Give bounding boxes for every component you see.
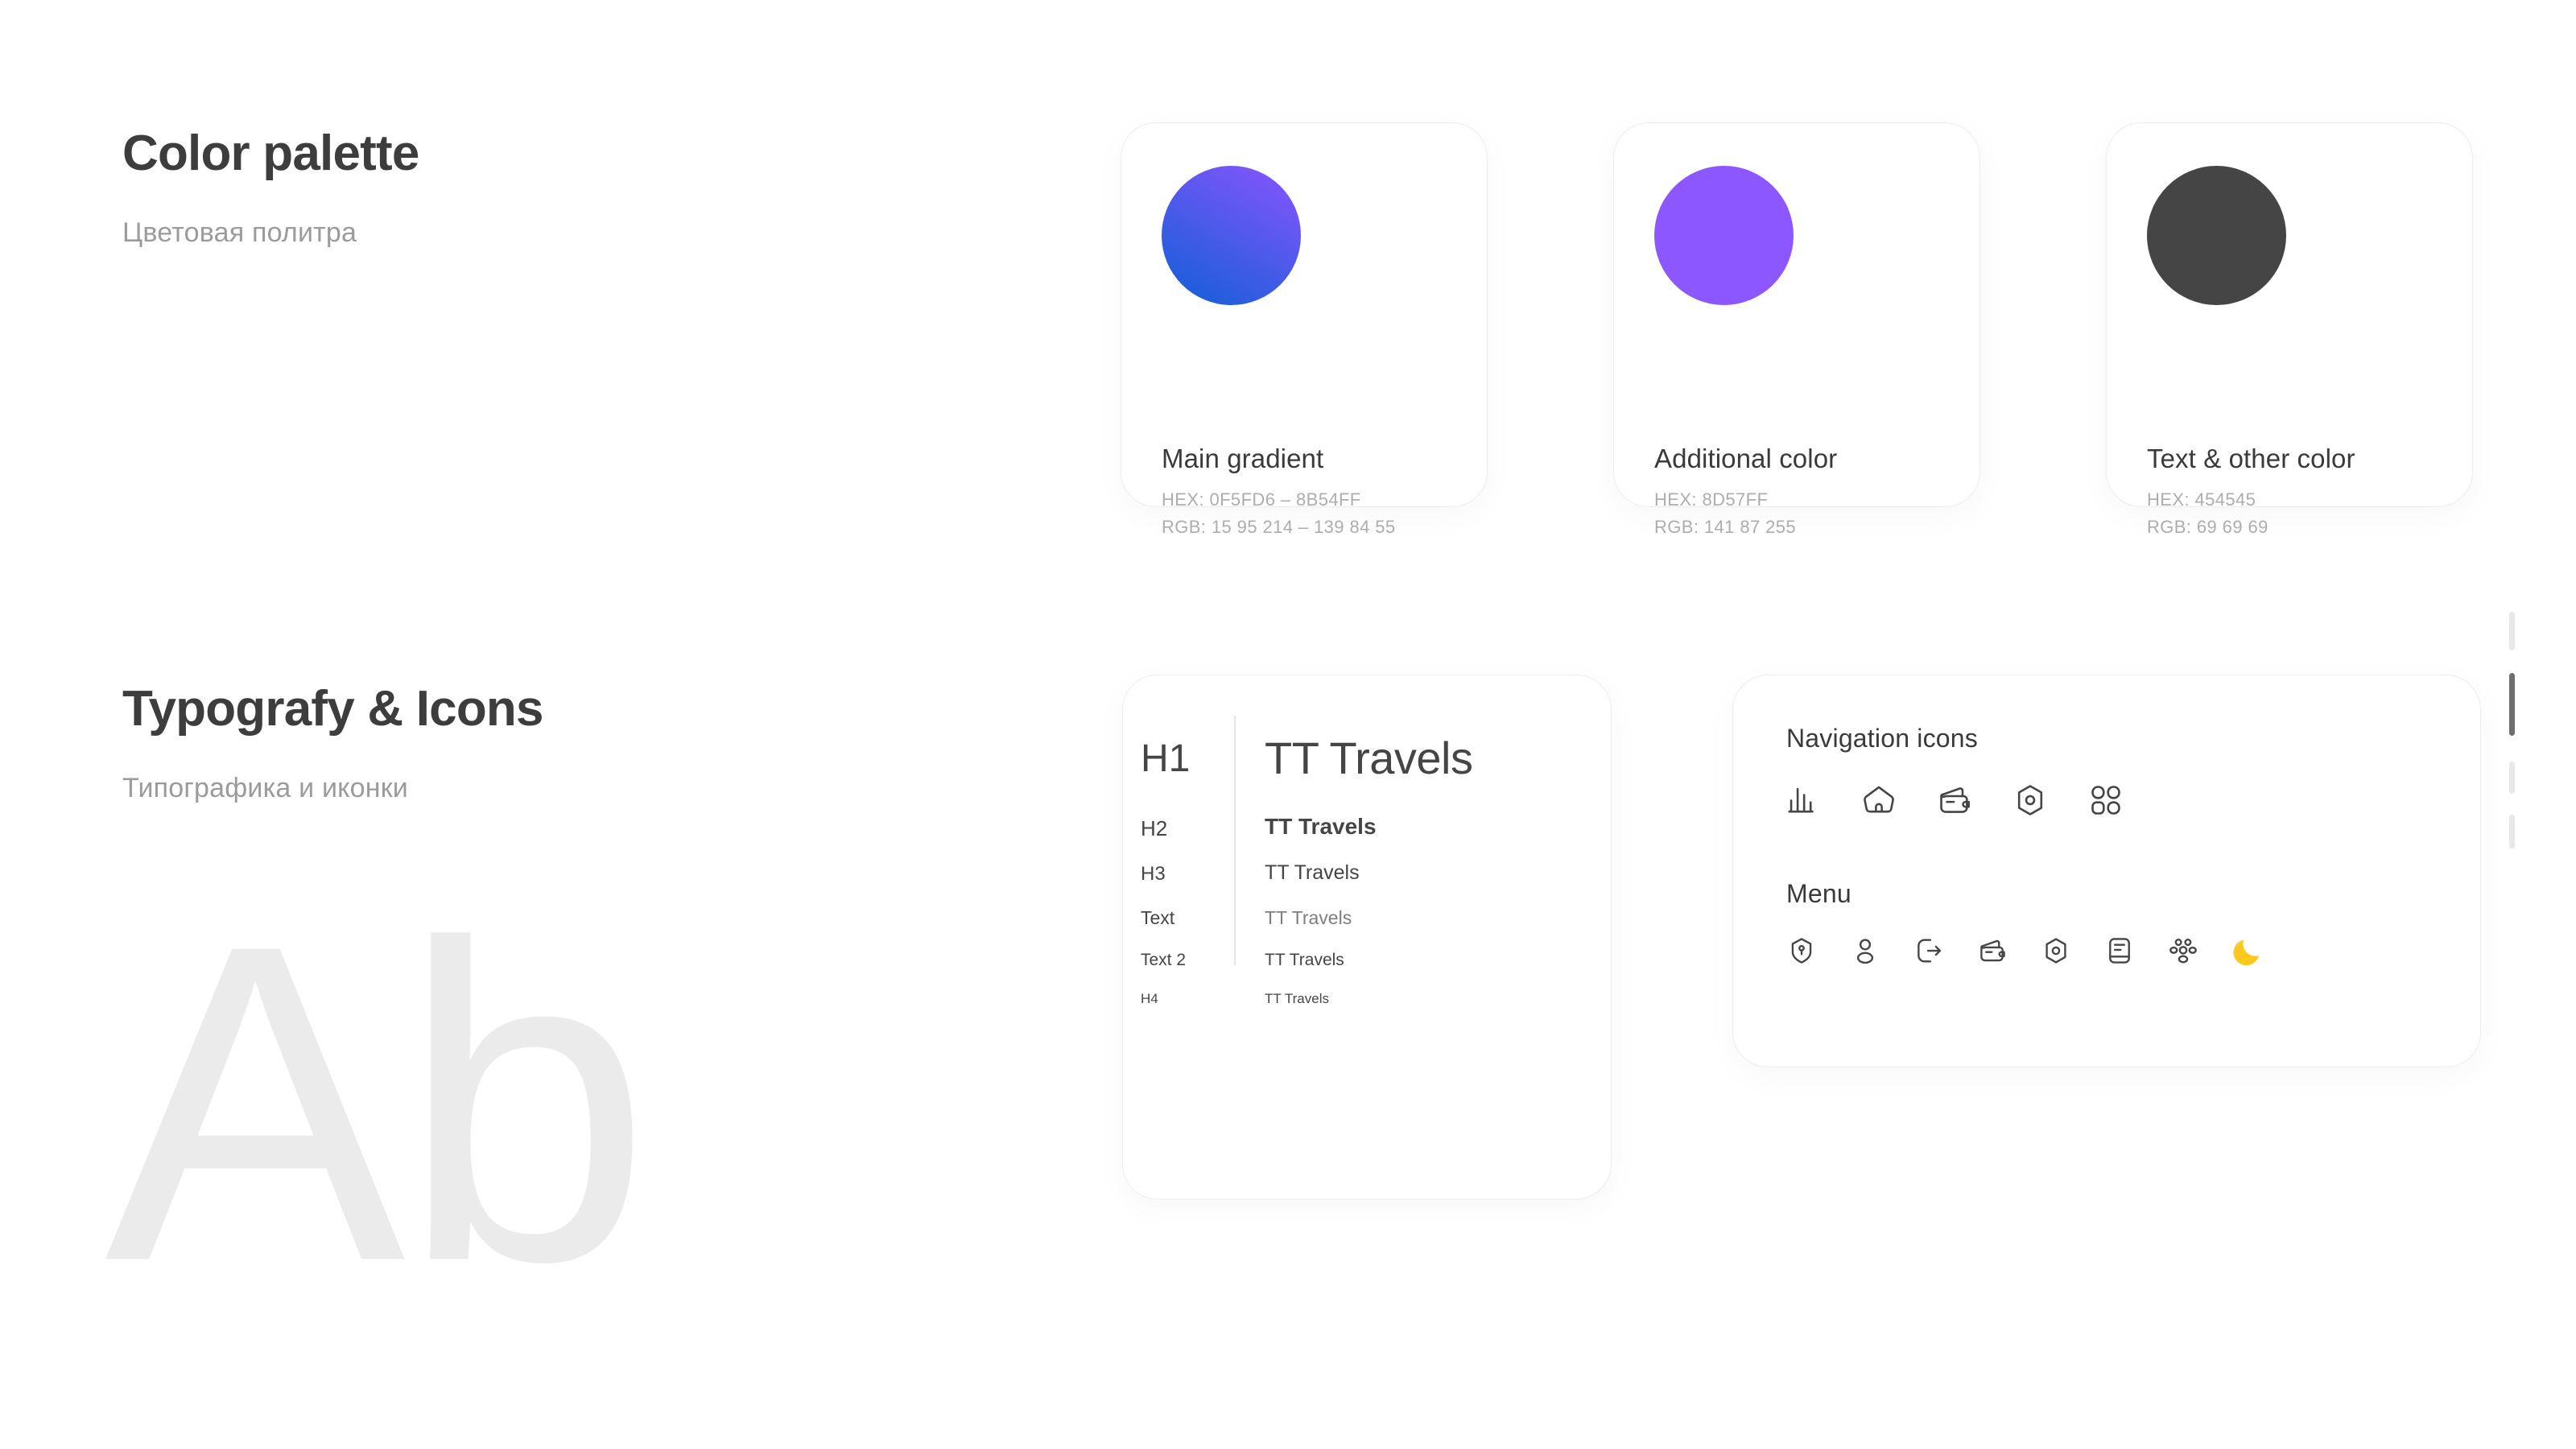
menu-icons-row <box>1786 935 2264 967</box>
swatch-name: Main gradient <box>1162 444 1323 474</box>
color-palette-subtitle: Цветовая политра <box>122 217 357 249</box>
type-sample-text-2: TT Travels <box>1265 951 1344 970</box>
wallet-icon[interactable] <box>1936 782 1973 819</box>
icons-card: Navigation icons <box>1732 675 2481 1067</box>
pager-dot-4[interactable] <box>2509 815 2515 848</box>
typography-icons-title: Typografy & Icons <box>122 680 543 737</box>
type-label-h1: H1 <box>1141 737 1190 781</box>
type-label-h4: H4 <box>1141 991 1158 1007</box>
grid-apps-icon[interactable] <box>2087 782 2124 819</box>
document-icon[interactable] <box>2104 935 2135 966</box>
type-sample-h2: TT Travels <box>1265 814 1377 840</box>
swatch-circle <box>1162 166 1301 305</box>
swatch-hex: HEX: 8D57FF <box>1654 489 1768 510</box>
type-label-h3: H3 <box>1141 863 1166 885</box>
type-divider <box>1234 716 1236 965</box>
color-palette-title: Color palette <box>122 125 419 182</box>
type-sample-text: TT Travels <box>1265 907 1352 929</box>
pager-dot-2[interactable] <box>2509 673 2515 736</box>
swatch-card-additional-color[interactable]: Additional color HEX: 8D57FF RGB: 141 87… <box>1613 122 1980 507</box>
pager-dot-3[interactable] <box>2509 762 2515 794</box>
ab-watermark: Ab <box>105 877 646 1328</box>
shield-key-icon[interactable] <box>1786 935 1817 966</box>
navigation-icons-row <box>1785 782 2124 819</box>
navigation-icons-title: Navigation icons <box>1786 724 1978 753</box>
swatch-rgb: RGB: 141 87 255 <box>1654 517 1796 538</box>
swatch-name: Additional color <box>1654 444 1837 474</box>
swatch-circle <box>1654 166 1794 305</box>
bar-chart-icon[interactable] <box>1785 782 1822 819</box>
swatch-rgb: RGB: 15 95 214 – 139 84 55 <box>1162 517 1396 538</box>
swatch-hex: HEX: 454545 <box>2147 489 2256 510</box>
swatch-circle <box>2147 166 2286 305</box>
typography-icons-subtitle: Типографика и иконки <box>122 773 408 804</box>
hexagon-settings-icon[interactable] <box>2012 782 2049 819</box>
wallet-icon[interactable] <box>1977 935 2008 966</box>
group-users-icon[interactable] <box>2168 935 2198 966</box>
swatch-hex: HEX: 0F5FD6 – 8B54FF <box>1162 489 1361 510</box>
type-sample-h4: TT Travels <box>1265 991 1329 1007</box>
hexagon-settings-icon[interactable] <box>2041 935 2071 966</box>
swatch-rgb: RGB: 69 69 69 <box>2147 517 2268 538</box>
type-label-text: Text <box>1141 907 1174 929</box>
type-sample-h3: TT Travels <box>1265 861 1360 885</box>
pager-dot-1[interactable] <box>2509 612 2515 650</box>
user-icon[interactable] <box>1850 935 1880 966</box>
typography-scale-card: H1 TT Travels H2 TT Travels H3 TT Travel… <box>1122 675 1612 1199</box>
type-sample-h1: TT Travels <box>1265 732 1472 784</box>
menu-icons-title: Menu <box>1786 879 1851 909</box>
slide-pager[interactable] <box>2509 612 2516 821</box>
swatch-card-main-gradient[interactable]: Main gradient HEX: 0F5FD6 – 8B54FF RGB: … <box>1121 122 1488 507</box>
logout-icon[interactable] <box>1913 935 1944 966</box>
type-label-text-2: Text 2 <box>1141 951 1186 970</box>
swatch-card-text-other-color[interactable]: Text & other color HEX: 454545 RGB: 69 6… <box>2106 122 2473 507</box>
type-label-h2: H2 <box>1141 816 1167 841</box>
swatch-name: Text & other color <box>2147 444 2355 474</box>
home-icon[interactable] <box>1860 782 1897 819</box>
moon-icon[interactable] <box>2231 935 2264 967</box>
